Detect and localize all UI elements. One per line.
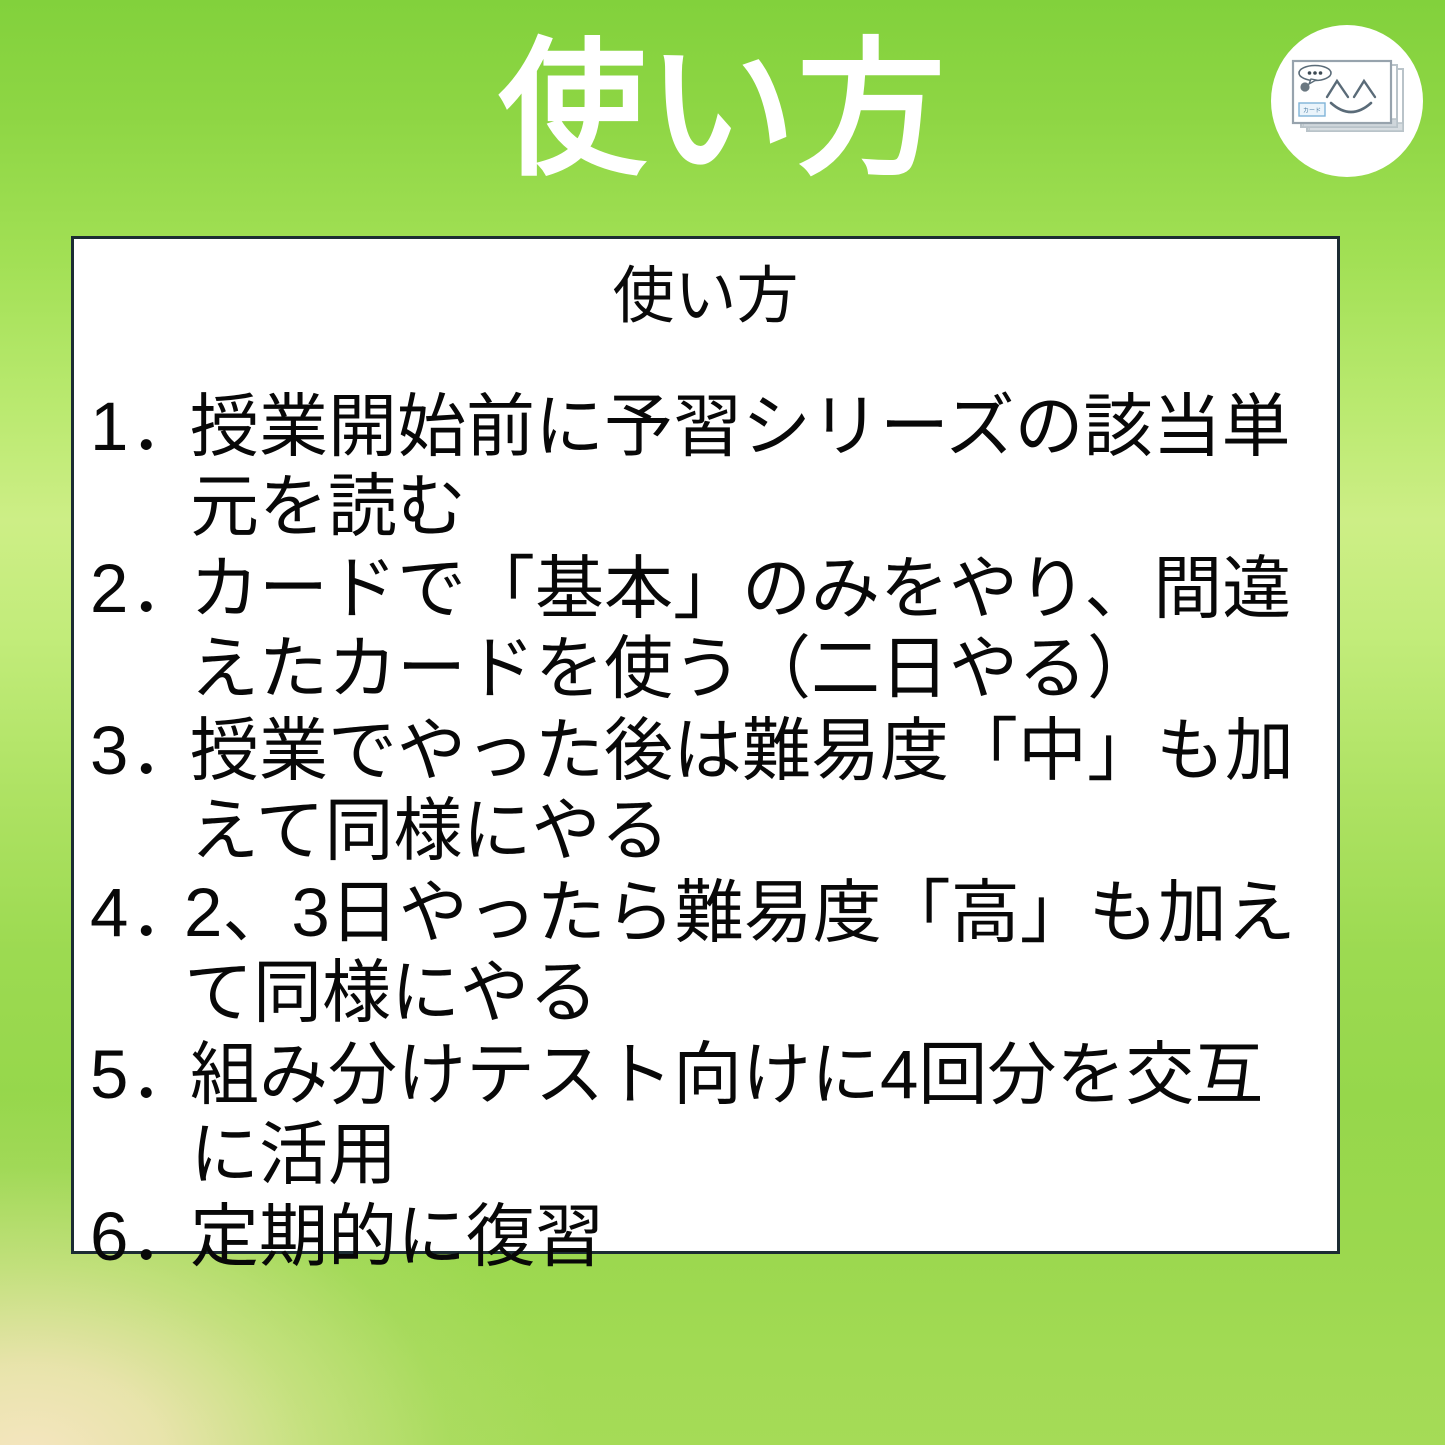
step-number-3: 3． [82,711,204,791]
step-number-1: 1． [82,387,204,467]
slide-root: 使い方 [0,0,1445,1445]
flashcard-stack-smiley-icon: カード [1271,25,1423,177]
step-text-1: 授業開始前に予習シリーズの該当単元を読む [190,387,1329,547]
step-text-5: 組み分けテスト向けに4回分を交互に活用 [190,1035,1329,1195]
step-text-6: 定期的に復習 [190,1197,1329,1277]
step-item-4: 4． 2、3日やったら難易度「高」も加えて同様にやる [82,873,1329,1033]
step-item-5: 5． 組み分けテスト向けに4回分を交互に活用 [82,1035,1329,1195]
steps-list: 1． 授業開始前に予習シリーズの該当単元を読む 2． カードで「基本」のみをやり… [82,387,1329,1279]
logo-card-label: カード [1303,108,1321,115]
step-item-1: 1． 授業開始前に予習シリーズの該当単元を読む [82,387,1329,547]
logo-badge: カード [1271,25,1423,177]
step-number-5: 5． [82,1035,204,1115]
step-item-3: 3． 授業でやった後は難易度「中」も加えて同様にやる [82,711,1329,871]
card-title: 使い方 [74,239,1337,335]
step-text-4: 2、3日やったら難易度「高」も加えて同様にやる [184,873,1329,1033]
step-item-2: 2． カードで「基本」のみをやり、間違えたカードを使う（二日やる） [82,549,1329,709]
step-text-2: カードで「基本」のみをやり、間違えたカードを使う（二日やる） [190,549,1329,709]
step-number-2: 2． [82,549,204,629]
step-text-3: 授業でやった後は難易度「中」も加えて同様にやる [190,711,1329,871]
content-card: 使い方 1． 授業開始前に予習シリーズの該当単元を読む 2． カードで「基本」の… [71,236,1340,1254]
step-item-6: 6． 定期的に復習 [82,1197,1329,1277]
step-number-6: 6． [82,1197,204,1277]
slide-header: 使い方 [0,0,1445,215]
page-title: 使い方 [0,24,1445,199]
